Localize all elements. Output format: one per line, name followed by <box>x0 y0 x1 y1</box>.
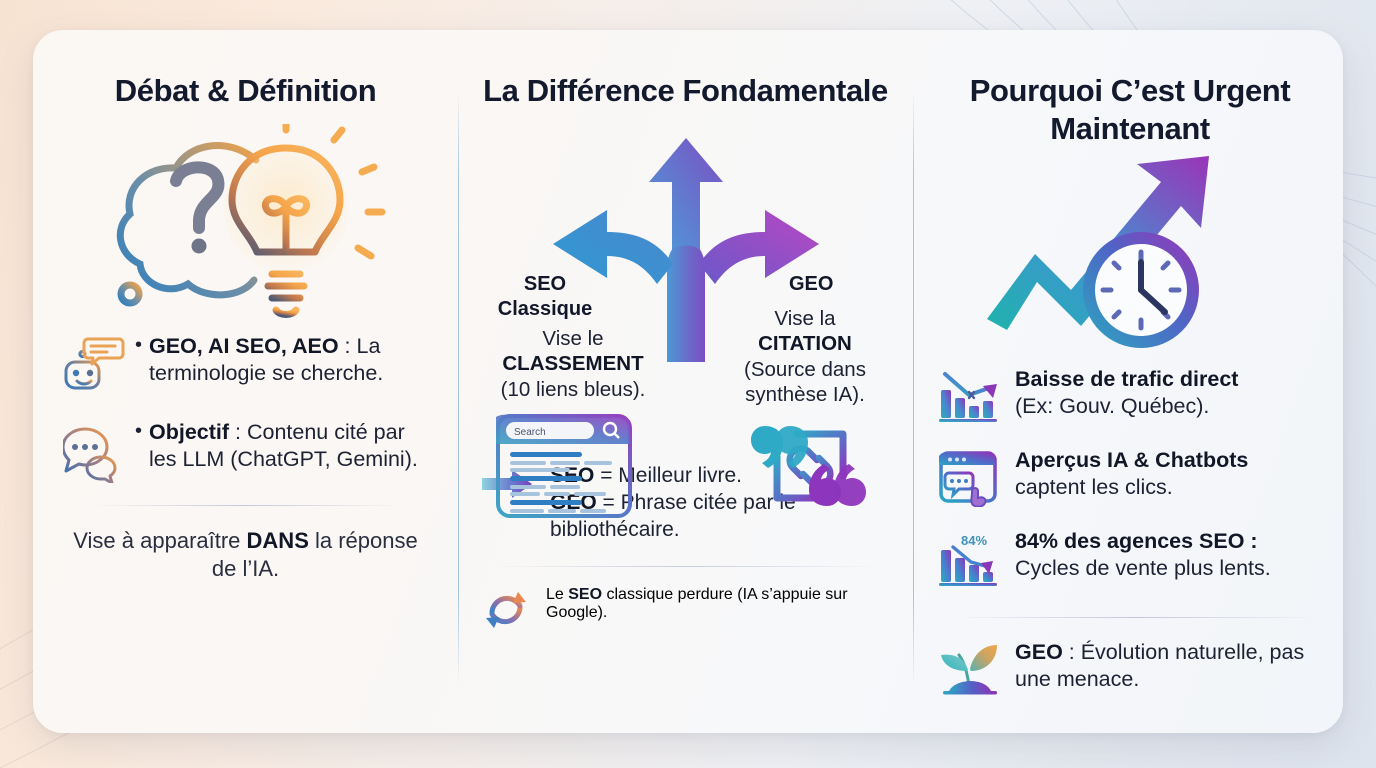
speech-bubbles-icon <box>63 421 125 483</box>
question-mark-dot <box>191 238 206 253</box>
growing-plant-icon <box>939 641 1001 703</box>
geo-desc-line3: (Source dans synthèse IA). <box>717 357 893 408</box>
seo-desc-strong: CLASSEMENT <box>476 351 670 376</box>
left-footer-before: Vise à apparaître <box>73 528 246 553</box>
list-item-rest: (Ex: Gouv. Québec). <box>1015 394 1209 418</box>
list-item-text: Aperçus IA & Chatbots captent les clics. <box>1015 447 1248 501</box>
list-item: 84% <box>939 528 1321 592</box>
list-item: • Objectif : Contenu cité par les LLM (C… <box>63 419 428 483</box>
right-divider <box>939 609 1321 629</box>
question-mark-icon <box>176 167 218 228</box>
geo-desc-line1: Vise la <box>717 306 893 331</box>
list-item-strong: Aperçus IA & Chatbots <box>1015 448 1248 472</box>
page-title-left: Débat & Définition <box>63 72 428 110</box>
list-item-strong: GEO <box>1015 640 1063 664</box>
close-quote-icon <box>809 464 866 506</box>
right-item-list: Baisse de trafic direct (Ex: Gouv. Québe… <box>939 366 1321 703</box>
list-item-rest: captent les clics. <box>1015 475 1173 499</box>
bullet-dot: • <box>135 419 142 473</box>
column-debat-definition: Débat & Définition <box>33 30 458 733</box>
list-item-strong: 84% des agences SEO : <box>1015 529 1258 553</box>
refresh-cycle-icon <box>482 586 530 634</box>
seo-desc-line1: Vise le <box>476 326 670 351</box>
list-item-text: GEO : Évolution naturelle, pas une menac… <box>1015 639 1321 693</box>
middle-footer-before: Le <box>546 586 568 603</box>
page-title-right: Pourquoi C’est Urgent Maintenant <box>939 72 1321 148</box>
left-footer-note: Vise à apparaître DANS la réponse de l’I… <box>63 505 428 584</box>
list-item-text: Baisse de trafic direct (Ex: Gouv. Québe… <box>1015 366 1238 420</box>
list-item-text: • GEO, AI SEO, AEO : La terminologie se … <box>135 333 428 387</box>
list-item-strong: GEO, AI SEO, AEO <box>149 334 339 358</box>
left-footer-strong: DANS <box>247 528 309 553</box>
infographic-card: Débat & Définition <box>33 30 1343 733</box>
label-geo: GEO <box>789 272 885 297</box>
middle-footer-text: Le SEO classique perdure (IA s’appuie su… <box>546 586 889 622</box>
search-input-placeholder: Search <box>514 427 546 438</box>
list-item: Aperçus IA & Chatbots captent les clics. <box>939 447 1321 511</box>
list-item-strong: Objectif <box>149 420 229 444</box>
seo-description-block: Vise le CLASSEMENT (10 liens bleus). <box>476 326 670 402</box>
right-hero-illustration <box>939 154 1321 366</box>
bullet-dot: • <box>135 333 142 387</box>
robot-chat-icon <box>63 335 125 397</box>
list-item-text: • Objectif : Contenu cité par les LLM (C… <box>135 419 428 473</box>
seo-desc-line3: (10 liens bleus). <box>476 377 670 402</box>
rising-arrow-clock-icon <box>985 154 1275 359</box>
quote-link-citation-icon <box>749 414 871 518</box>
list-item-text: 84% des agences SEO : Cycles de vente pl… <box>1015 528 1271 582</box>
middle-footer-note: Le SEO classique perdure (IA s’appuie su… <box>476 566 895 634</box>
label-seo-classique: SEO Classique <box>480 272 610 322</box>
chart-percent-label: 84% <box>961 533 987 548</box>
geo-description-block: Vise la CITATION (Source dans synthèse I… <box>717 306 893 408</box>
middle-footer-strong: SEO <box>568 586 602 603</box>
left-bullet-list: • GEO, AI SEO, AEO : La terminologie se … <box>63 333 428 483</box>
ai-overview-chatbot-click-icon <box>939 449 1001 511</box>
list-item-rest: Cycles de vente plus lents. <box>1015 556 1271 580</box>
list-item: GEO : Évolution naturelle, pas une menac… <box>939 639 1321 703</box>
bar-chart-84-percent-icon: 84% <box>939 530 1001 592</box>
list-item-strong: Baisse de trafic direct <box>1015 367 1238 391</box>
declining-bar-chart-icon <box>939 368 1001 430</box>
column-pourquoi-urgent: Pourquoi C’est Urgent Maintenant <box>913 30 1343 733</box>
list-item: Baisse de trafic direct (Ex: Gouv. Québe… <box>939 366 1321 430</box>
page-title-middle: La Différence Fondamentale <box>476 72 895 110</box>
geo-desc-strong: CITATION <box>717 331 893 356</box>
column-difference-fondamentale: La Différence Fondamentale <box>458 30 913 733</box>
left-hero-illustration <box>63 124 428 329</box>
search-results-window-icon: Search <box>496 414 632 518</box>
middle-fork-illustration: SEO Classique GEO Vise le CLASSEMENT (10… <box>476 114 895 454</box>
list-item: • GEO, AI SEO, AEO : La terminologie se … <box>63 333 428 397</box>
